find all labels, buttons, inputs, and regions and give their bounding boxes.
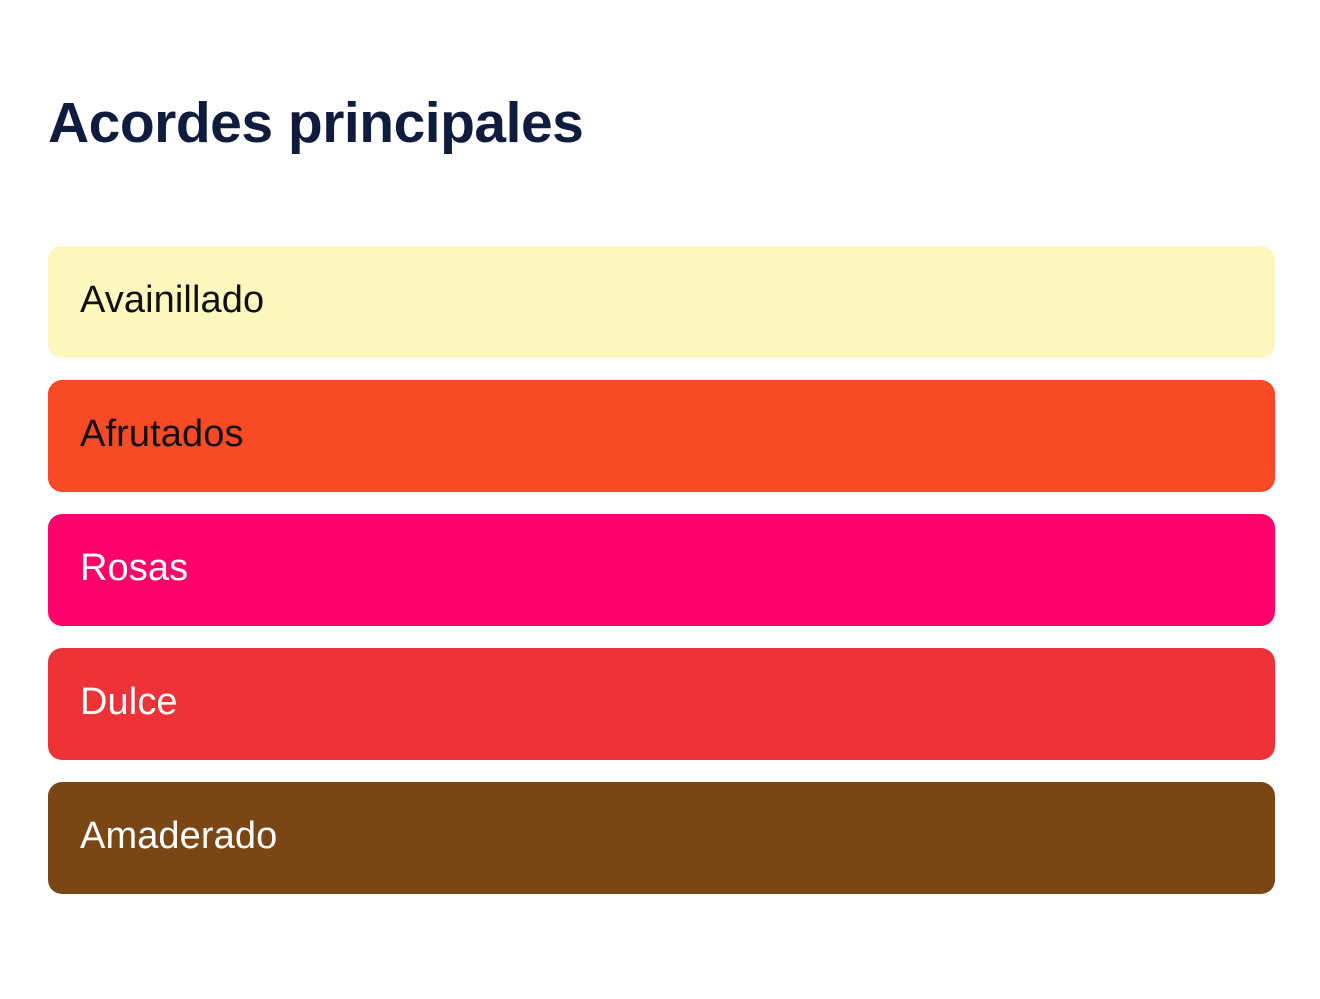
accord-bar-2[interactable]: Afrutados [48,380,1275,492]
accord-bar-5[interactable]: Amaderado [48,782,1275,894]
accord-bar-4[interactable]: Dulce [48,648,1275,760]
accord-label-4: Dulce [48,680,178,724]
accords-panel: Acordes principales Avainillado Afrutado… [0,0,1320,999]
accord-label-3: Rosas [48,546,188,590]
accord-bar-1[interactable]: Avainillado [48,246,1275,358]
accord-label-1: Avainillado [48,278,264,322]
page-title: Acordes principales [48,92,583,154]
accord-bar-list: Avainillado Afrutados Rosas Dulce Amader… [48,246,1275,894]
accord-label-2: Afrutados [48,412,244,456]
accord-label-5: Amaderado [48,814,277,858]
accord-bar-3[interactable]: Rosas [48,514,1275,626]
